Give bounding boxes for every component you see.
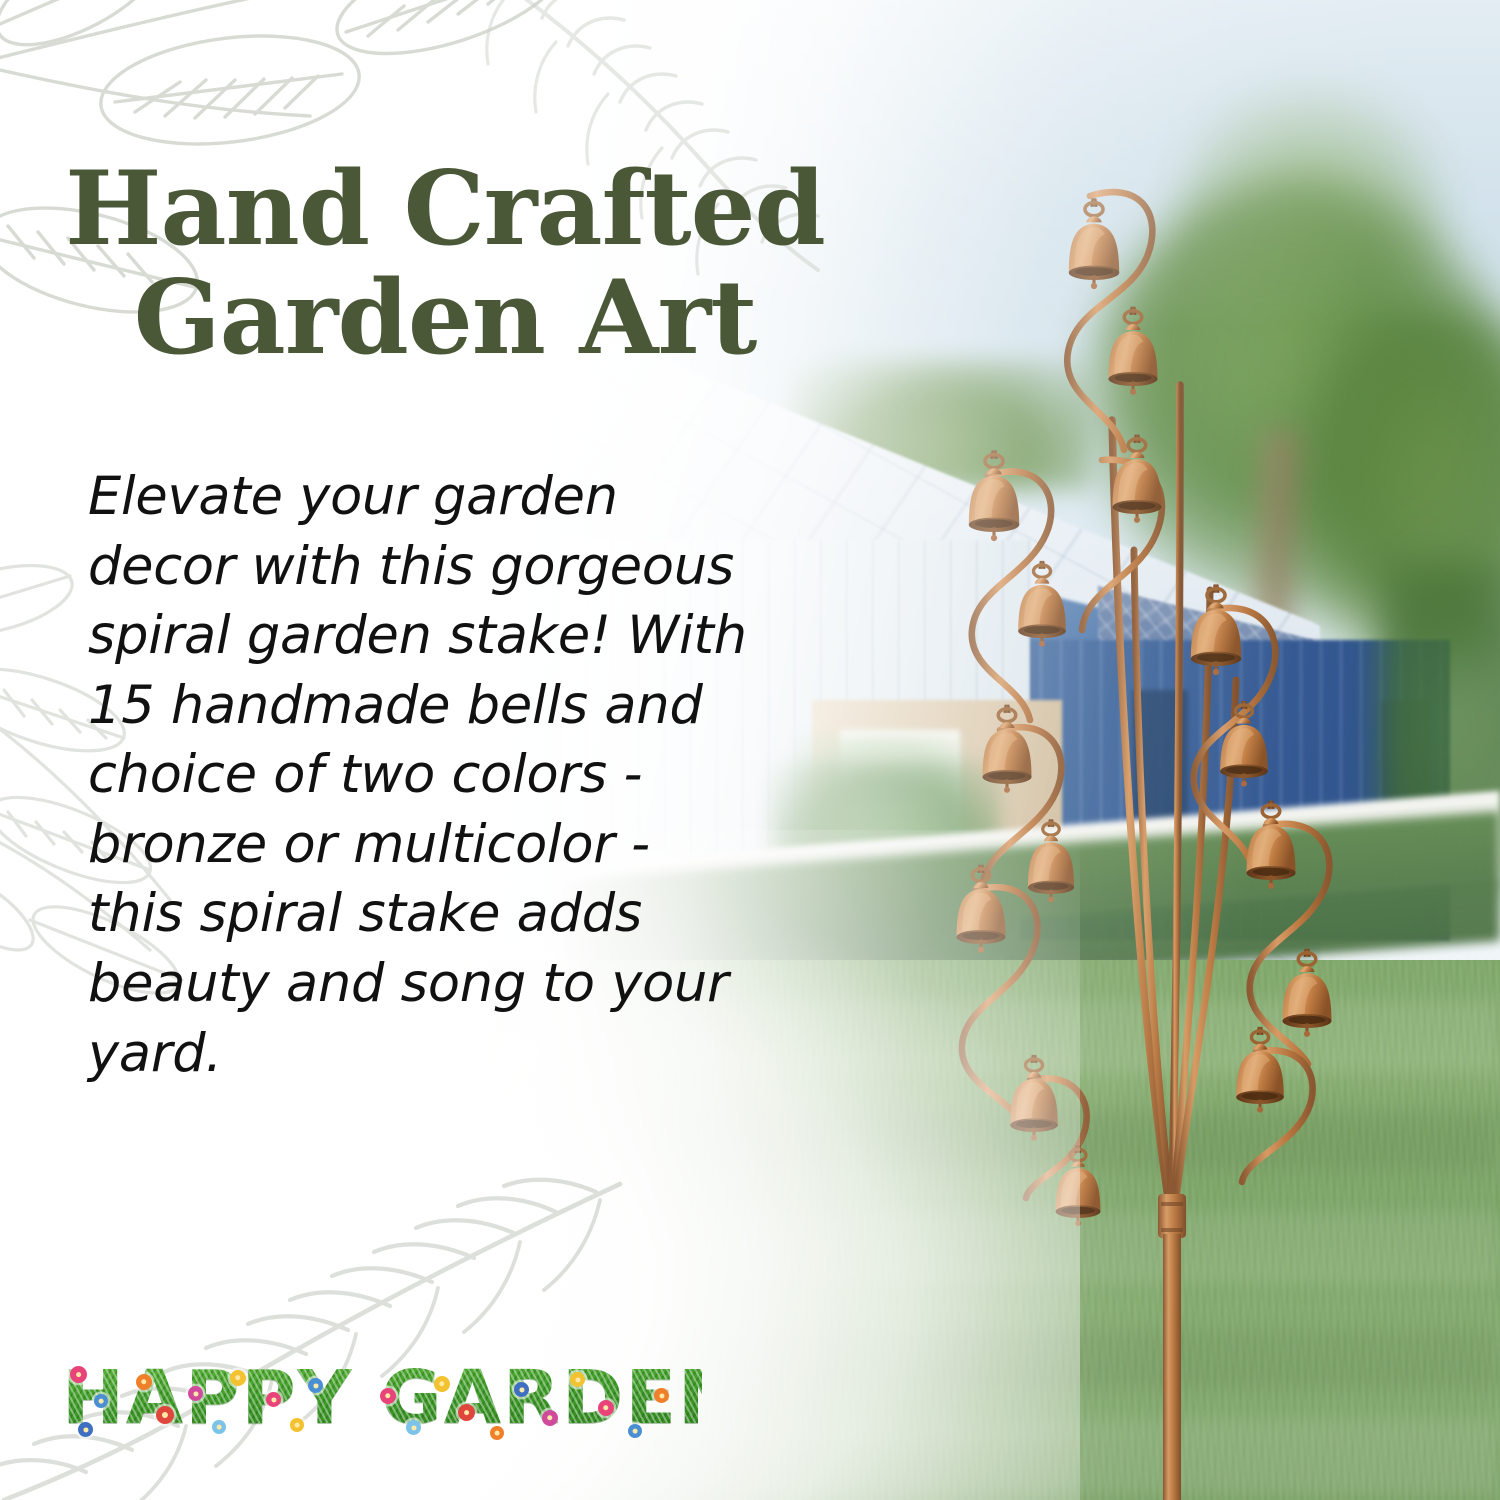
poster-canvas: Hand Crafted Garden Art Elevate your gar… <box>0 0 1500 1500</box>
headline-line-2: Garden Art <box>0 264 890 373</box>
flower-icon <box>188 1386 203 1401</box>
flower-icon <box>542 1410 558 1426</box>
flower-icon <box>78 1422 93 1437</box>
flower-icon <box>266 1392 281 1407</box>
flower-icon <box>570 1372 585 1387</box>
flower-icon <box>380 1388 396 1404</box>
flower-icon <box>94 1394 108 1408</box>
flower-icon <box>654 1388 669 1403</box>
flower-icon <box>308 1378 323 1393</box>
headline-line-1: Hand Crafted <box>0 155 890 264</box>
flower-icon <box>230 1370 246 1386</box>
flower-icon <box>406 1420 421 1435</box>
flower-icon <box>70 1366 87 1383</box>
flower-icon <box>212 1420 226 1434</box>
flower-icon <box>458 1404 475 1421</box>
flower-icon <box>490 1426 504 1440</box>
flower-icon <box>514 1382 529 1397</box>
flower-icon <box>598 1400 614 1416</box>
flower-icon <box>628 1424 642 1438</box>
product-description: Elevate your garden decor with this gorg… <box>88 462 748 1088</box>
flower-icon <box>136 1374 152 1390</box>
flower-icon <box>290 1418 304 1432</box>
flower-icon <box>434 1376 450 1392</box>
brand-logo[interactable]: HAPPY GARDENS <box>62 1348 702 1448</box>
flower-icon <box>156 1406 174 1424</box>
page-title: Hand Crafted Garden Art <box>0 155 890 373</box>
